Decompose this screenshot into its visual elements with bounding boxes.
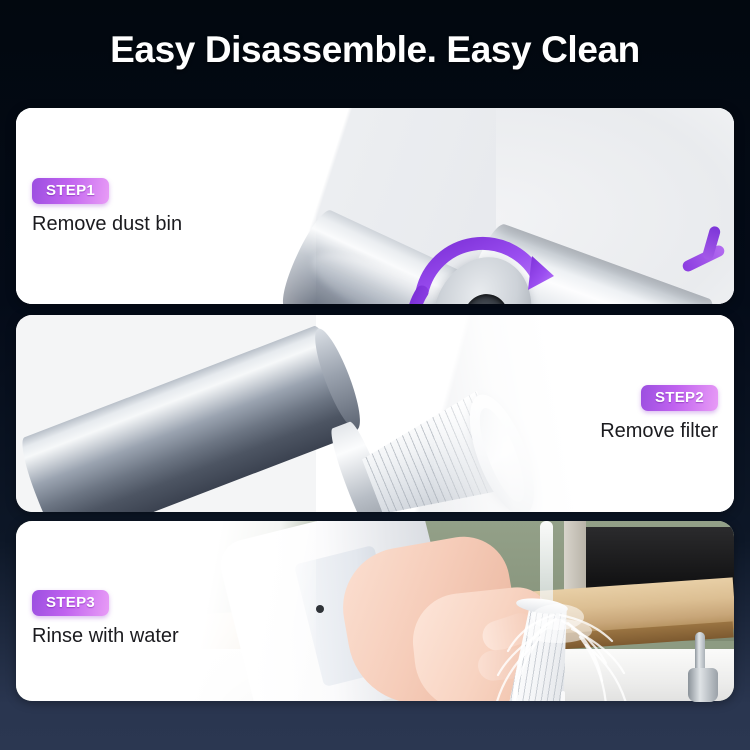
step1-caption-text: Remove dust bin — [32, 213, 182, 236]
step2-caption-text: Remove filter — [600, 420, 718, 443]
water-splash-icon — [468, 571, 658, 701]
step2-caption: STEP2 Remove filter — [600, 385, 718, 443]
header: Easy Disassemble. Easy Clean — [0, 0, 750, 100]
step1-caption: STEP1 Remove dust bin — [32, 178, 182, 236]
water-drip-1 — [514, 685, 518, 701]
rotation-arrows-icon — [386, 228, 616, 304]
step3-caption-text: Rinse with water — [32, 625, 179, 648]
step3-badge: STEP3 — [32, 590, 109, 616]
step1-badge: STEP1 — [32, 178, 109, 204]
product-infographic: Easy Disassemble. Easy Clean — [0, 0, 750, 750]
faucet-handle-base-icon — [688, 668, 718, 702]
page-title: Easy Disassemble. Easy Clean — [110, 29, 640, 71]
step3-caption: STEP3 Rinse with water — [32, 590, 179, 648]
water-drip-2 — [561, 691, 565, 701]
cuff-button-icon — [316, 605, 324, 613]
step2-badge: STEP2 — [641, 385, 718, 411]
